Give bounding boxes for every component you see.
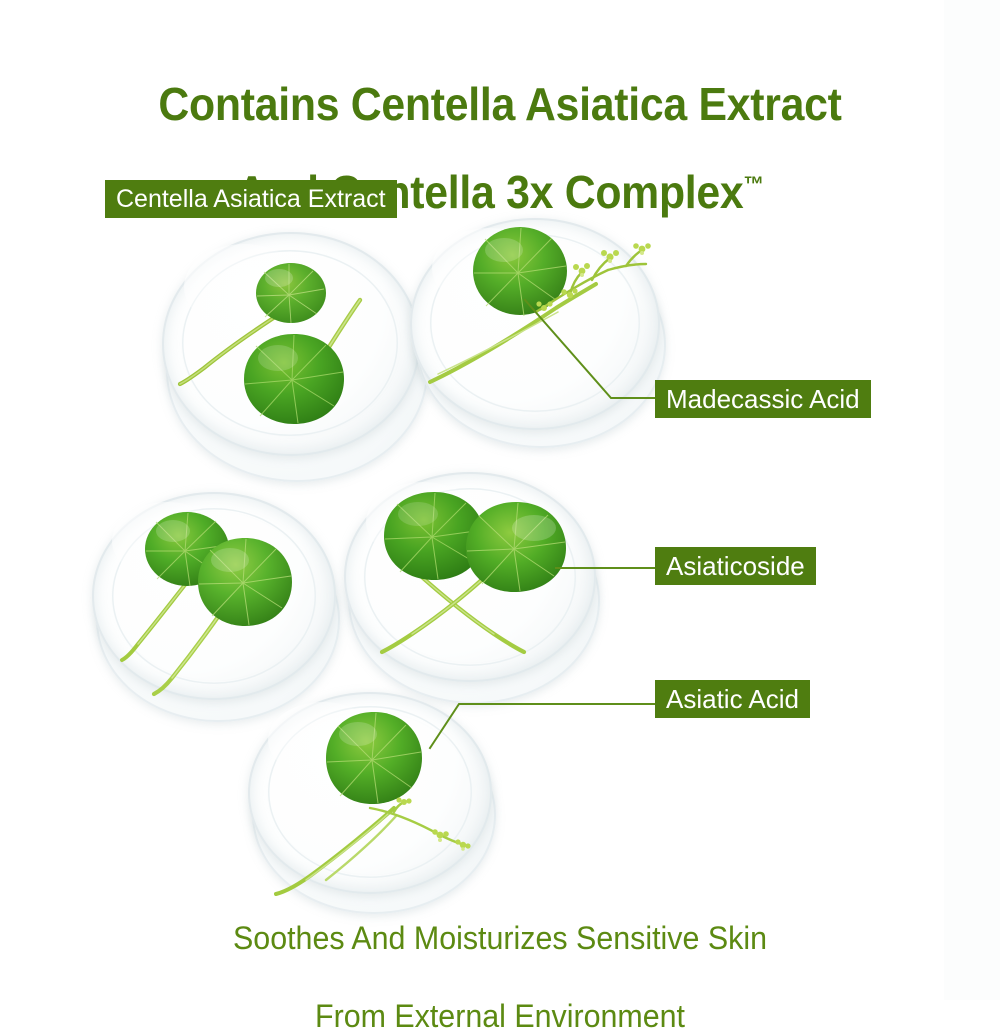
tagline-line-1: Soothes And Moisturizes Sensitive Skin xyxy=(233,920,767,956)
badge-asiatic-acid[interactable]: Asiatic Acid xyxy=(655,680,810,718)
tagline: Soothes And Moisturizes Sensitive Skin F… xyxy=(25,880,975,1036)
centella-leaf xyxy=(464,500,568,594)
centella-leaf xyxy=(196,536,294,628)
petri-dish-top-right xyxy=(410,218,680,453)
centella-leaf xyxy=(324,710,424,806)
petri-dish-top-left xyxy=(160,232,440,482)
badge-centella-asiatica-extract[interactable]: Centella Asiatica Extract xyxy=(105,180,397,218)
badge-asiaticoside[interactable]: Asiaticoside xyxy=(655,547,816,585)
title-line-1: Contains Centella Asiatica Extract xyxy=(158,78,841,130)
centella-leaf xyxy=(242,332,346,426)
tagline-line-2: From External Environment xyxy=(315,998,685,1034)
trademark-symbol: ™ xyxy=(743,172,763,197)
centella-flower-cluster xyxy=(530,242,665,352)
product-infographic: Contains Centella Asiatica Extract And C… xyxy=(0,0,1000,1000)
petri-dish-middle-left xyxy=(92,492,352,727)
petri-dish-middle-right xyxy=(344,472,614,710)
centella-flower-cluster xyxy=(368,798,478,858)
badge-madecassic-acid[interactable]: Madecassic Acid xyxy=(655,380,871,418)
